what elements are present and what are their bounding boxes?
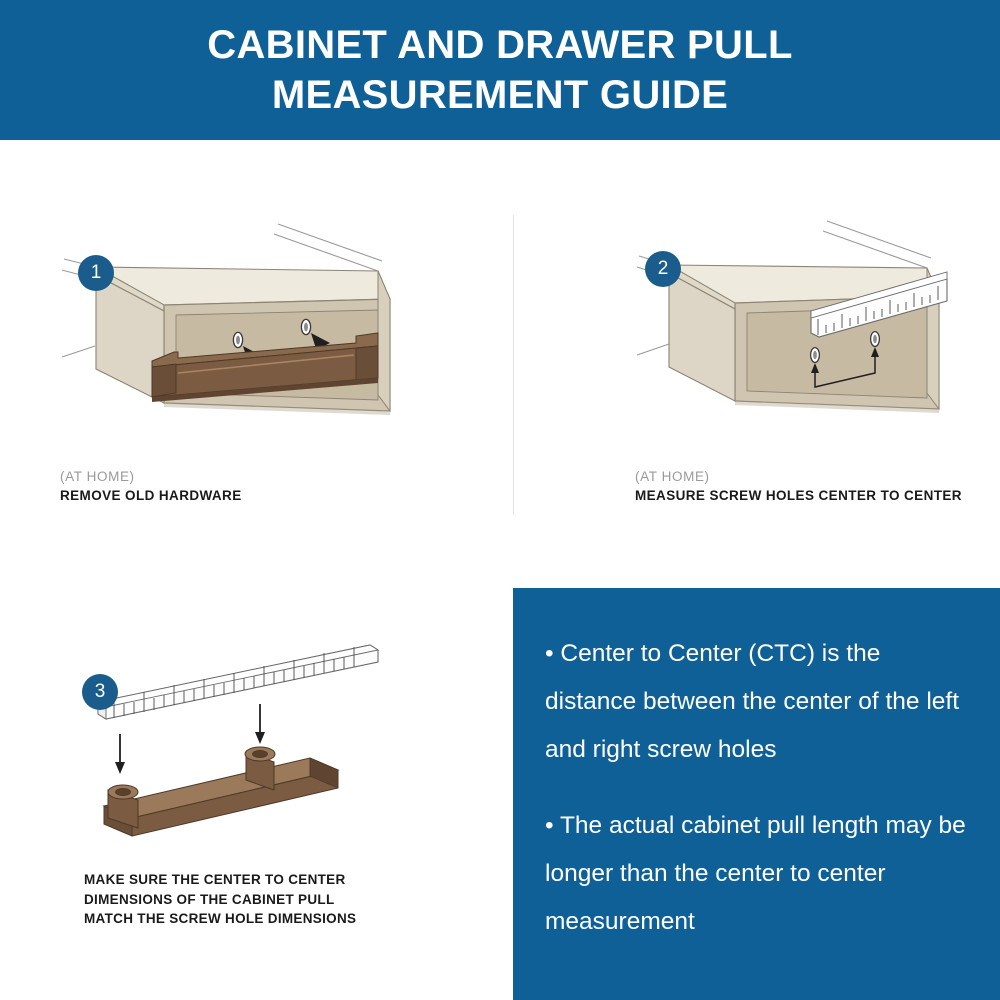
- cabinet-pull-with-ruler-illustration: [60, 640, 460, 855]
- step-title-3-line-2: DIMENSIONS OF THE CABINET PULL: [84, 890, 356, 910]
- step-caption-3: MAKE SURE THE CENTER TO CENTER DIMENSION…: [84, 870, 356, 929]
- infographic-page: CABINET AND DRAWER PULL MEASUREMENT GUID…: [0, 0, 1000, 1000]
- page-header: CABINET AND DRAWER PULL MEASUREMENT GUID…: [0, 0, 1000, 140]
- info-bullet-2: • The actual cabinet pull length may be …: [545, 802, 978, 946]
- step-title-2: MEASURE SCREW HOLES CENTER TO CENTER: [635, 486, 962, 505]
- info-panel: • Center to Center (CTC) is the distance…: [513, 588, 1000, 1000]
- drawer-measure-screw-holes-illustration: [635, 215, 980, 465]
- step-caption-2: (AT HOME) MEASURE SCREW HOLES CENTER TO …: [635, 467, 962, 505]
- step-title-3-line-1: MAKE SURE THE CENTER TO CENTER: [84, 870, 356, 890]
- page-title-line-2: MEASUREMENT GUIDE: [272, 70, 728, 120]
- step-panel-1: 1 (AT HOME) REMOVE OLD HARDWARE: [60, 215, 490, 515]
- panel-divider: [513, 215, 514, 515]
- ruler-graphic: [98, 645, 378, 719]
- page-title-line-1: CABINET AND DRAWER PULL: [207, 20, 792, 70]
- step-title-3-line-3: MATCH THE SCREW HOLE DIMENSIONS: [84, 909, 356, 929]
- step-eyebrow-2: (AT HOME): [635, 467, 962, 486]
- step-panel-2: 2 (AT HOME) MEASURE SCREW HOLES CENTER T…: [635, 215, 975, 515]
- cabinet-pull-bar: [104, 758, 338, 836]
- alignment-arrows: [115, 704, 265, 774]
- step-number-badge-3: 3: [82, 674, 118, 710]
- step-eyebrow-1: (AT HOME): [60, 467, 242, 486]
- info-bullet-1: • Center to Center (CTC) is the distance…: [545, 630, 978, 774]
- drawer-remove-hardware-illustration: [60, 215, 490, 465]
- step-number-badge-2: 2: [645, 251, 681, 287]
- step-title-1: REMOVE OLD HARDWARE: [60, 486, 242, 505]
- step-number-badge-1: 1: [78, 255, 114, 291]
- step-panel-3: 3 MAKE SURE THE CENTER TO CENTER DIMENSI…: [60, 640, 490, 940]
- step-caption-1: (AT HOME) REMOVE OLD HARDWARE: [60, 467, 242, 505]
